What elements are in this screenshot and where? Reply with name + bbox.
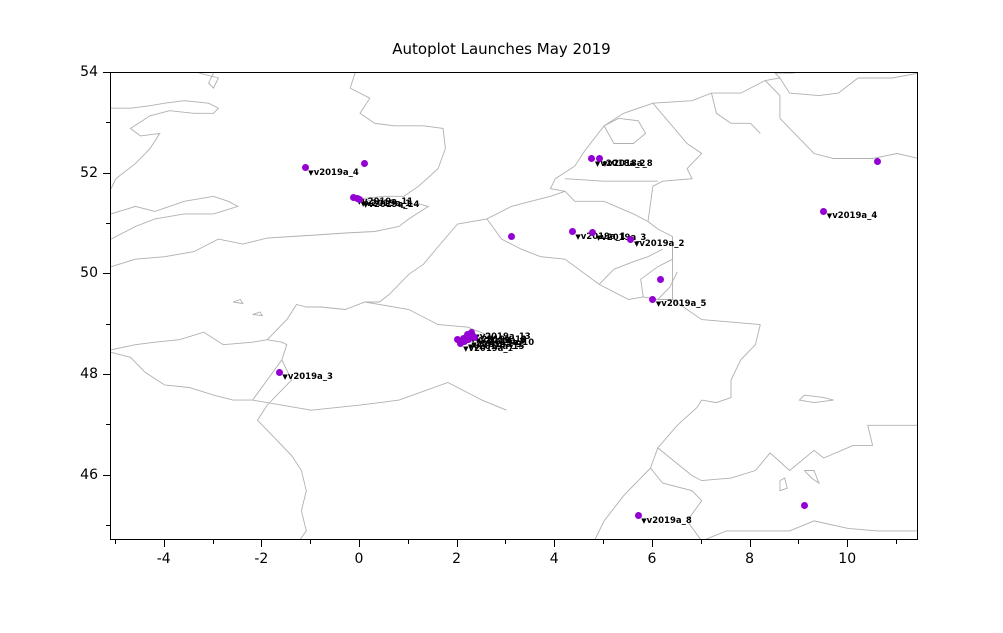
scatter-point[interactable] — [874, 158, 881, 165]
scatter-point[interactable] — [657, 276, 664, 283]
x-axis-tick-label: 0 — [355, 551, 364, 567]
x-axis-tick-label: -2 — [254, 551, 268, 567]
x-axis-tick — [554, 540, 555, 547]
y-axis-minor-tick — [106, 525, 110, 526]
y-axis-tick-label: 52 — [64, 165, 98, 181]
scatter-point[interactable] — [508, 233, 515, 240]
point-label: ▼v2019a_4 — [827, 212, 878, 221]
y-axis-tick — [103, 374, 110, 375]
x-axis-minor-tick — [603, 540, 604, 544]
y-axis-tick-label: 48 — [64, 366, 98, 382]
x-axis-tick-label: 10 — [838, 551, 856, 567]
point-label: ▼v2019a_2 — [634, 240, 685, 249]
x-axis-minor-tick — [505, 540, 506, 544]
x-axis-minor-tick — [408, 540, 409, 544]
point-label: ▼v2019a_4 — [308, 169, 359, 178]
x-axis-tick — [652, 540, 653, 547]
point-label: ▼v2019a_14 — [363, 201, 419, 210]
x-axis-minor-tick — [310, 540, 311, 544]
x-axis-minor-tick — [896, 540, 897, 544]
y-axis-minor-tick — [106, 324, 110, 325]
x-axis-tick-label: 2 — [452, 551, 461, 567]
coastline-map — [111, 73, 918, 540]
x-axis-minor-tick — [701, 540, 702, 544]
point-label: ▼v2019a_15 — [468, 343, 524, 352]
x-axis-tick — [359, 540, 360, 547]
x-axis-tick-label: 6 — [647, 551, 656, 567]
point-label: ▼v2019a_8 — [641, 517, 692, 526]
x-axis-tick — [261, 540, 262, 547]
point-label: ▼v2019a_5 — [656, 300, 707, 309]
y-axis-tick — [103, 273, 110, 274]
y-axis-tick — [103, 475, 110, 476]
y-axis-minor-tick — [106, 424, 110, 425]
y-axis-tick-label: 50 — [64, 265, 98, 281]
x-axis-tick-label: -4 — [157, 551, 171, 567]
x-axis-minor-tick — [115, 540, 116, 544]
x-axis-tick — [847, 540, 848, 547]
plot-area[interactable]: ▼v2019a_4▼v2019a_11▼v2019a_1▼v2019a_14▼v… — [110, 72, 918, 540]
x-axis-tick — [750, 540, 751, 547]
y-axis-minor-tick — [106, 122, 110, 123]
x-axis-tick — [164, 540, 165, 547]
x-axis-tick — [457, 540, 458, 547]
y-axis-tick-label: 46 — [64, 467, 98, 483]
x-axis-minor-tick — [213, 540, 214, 544]
scatter-point[interactable] — [801, 502, 808, 509]
x-axis-tick-label: 8 — [745, 551, 754, 567]
point-label: ▼v2019a_3 — [282, 373, 333, 382]
matplotlib-figure: Autoplot Launches May 2019 ▼v2019a_4▼v20… — [0, 0, 1003, 633]
point-label: ▼v2018a_8 — [602, 160, 653, 169]
y-axis-tick-label: 54 — [64, 64, 98, 80]
page-title: Autoplot Launches May 2019 — [0, 40, 1003, 58]
y-axis-tick — [103, 173, 110, 174]
y-axis-minor-tick — [106, 223, 110, 224]
x-axis-minor-tick — [798, 540, 799, 544]
y-axis-tick — [103, 72, 110, 73]
x-axis-tick-label: 4 — [550, 551, 559, 567]
